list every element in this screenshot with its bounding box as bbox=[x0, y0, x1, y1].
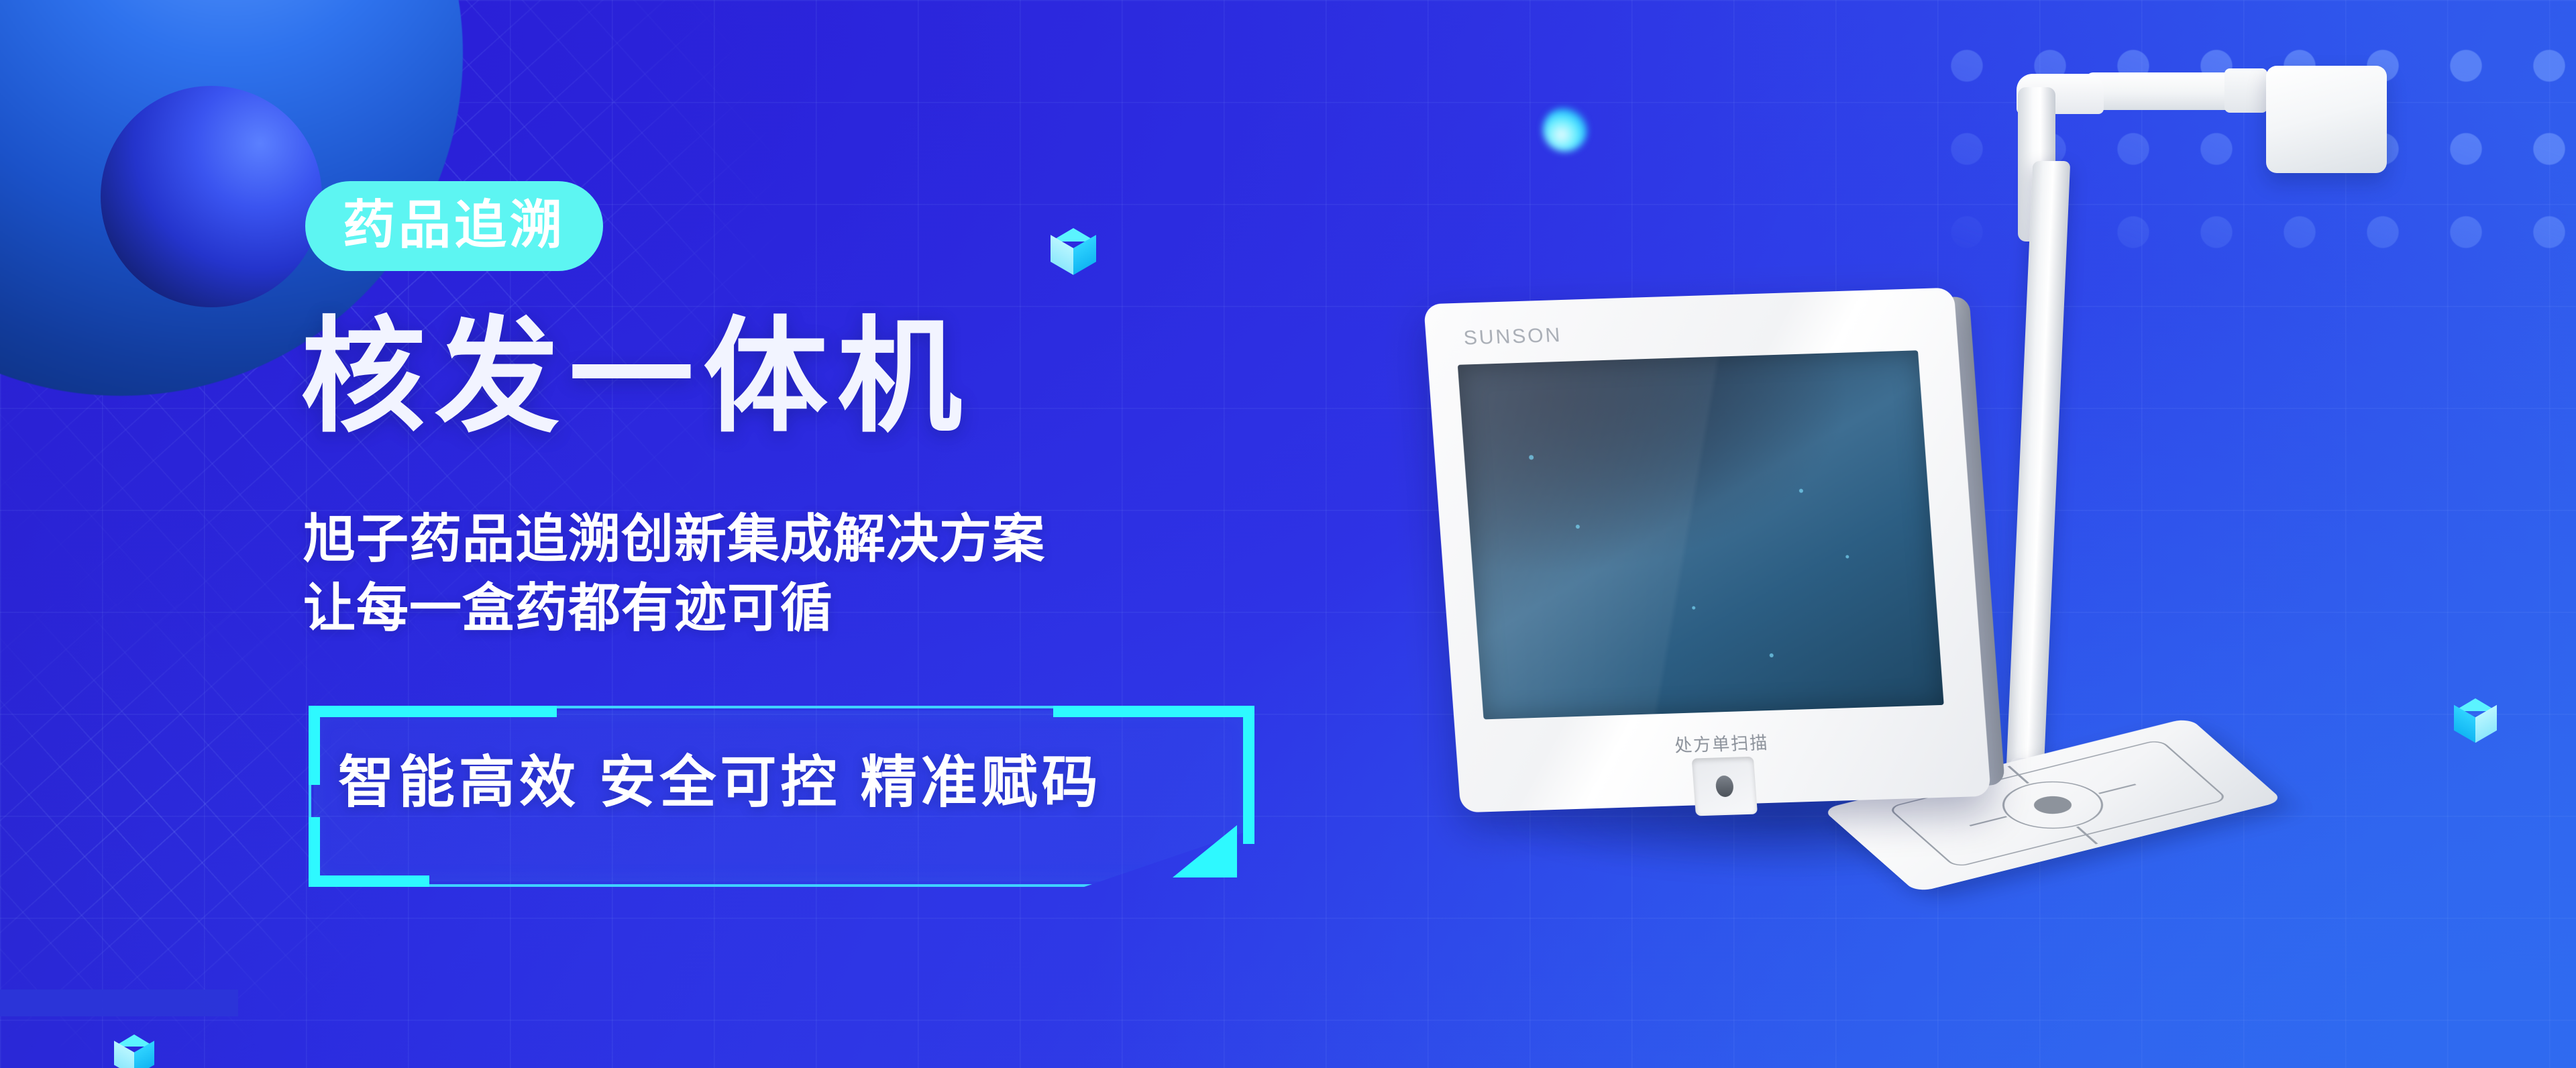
device-illustration: SUNSON 处方单扫描 bbox=[1442, 168, 2381, 959]
frame-corner-top-left-h bbox=[309, 706, 557, 717]
category-badge: 药品追溯 bbox=[305, 181, 603, 271]
subtitle-line-2: 让每一盒药都有迹可循 bbox=[303, 574, 1045, 643]
crosshair-tick-bottom bbox=[2076, 826, 2098, 845]
category-badge-label: 药品追溯 bbox=[343, 199, 566, 251]
frame-corner-bottom-right-v bbox=[1243, 770, 1254, 844]
promo-banner: 药品追溯 核发一体机 旭子药品追溯创新集成解决方案 让每一盒药都有迹可循 智能高… bbox=[0, 0, 2576, 1068]
camera-head bbox=[2266, 66, 2387, 173]
page-title: 核发一体机 bbox=[301, 315, 971, 440]
frame-corner-bottom-left-v bbox=[309, 817, 320, 887]
banner-content: 药品追溯 核发一体机 旭子药品追溯创新集成解决方案 让每一盒药都有迹可循 智能高… bbox=[0, 0, 1375, 1068]
overhead-arm-joint bbox=[2224, 68, 2267, 113]
monitor-screen bbox=[1458, 350, 1944, 719]
stand-column bbox=[2006, 161, 2071, 785]
monitor-body: SUNSON 处方单扫描 bbox=[1424, 288, 1991, 813]
glow-orb bbox=[1543, 107, 1587, 152]
subtitle-line-1: 旭子药品追溯创新集成解决方案 bbox=[303, 504, 1045, 574]
tagline-text: 智能高效 安全可控 精准赋码 bbox=[338, 754, 1102, 810]
device-brand-logo: SUNSON bbox=[1463, 324, 1563, 350]
monitor-panel: SUNSON 处方单扫描 bbox=[1424, 288, 1991, 813]
tagline-frame: 智能高效 安全可控 精准赋码 bbox=[309, 706, 1254, 887]
frame-corner-top-right-h bbox=[1053, 706, 1254, 717]
frame-corner-top-left-v bbox=[309, 706, 320, 785]
frame-corner-triangle-icon bbox=[1173, 825, 1237, 877]
prescription-scan-window bbox=[1692, 757, 1758, 816]
crosshair-tick-left bbox=[1969, 816, 2007, 826]
subtitle-block: 旭子药品追溯创新集成解决方案 让每一盒药都有迹可循 bbox=[303, 504, 1045, 643]
frame-corner-bottom-left-h bbox=[309, 875, 429, 887]
